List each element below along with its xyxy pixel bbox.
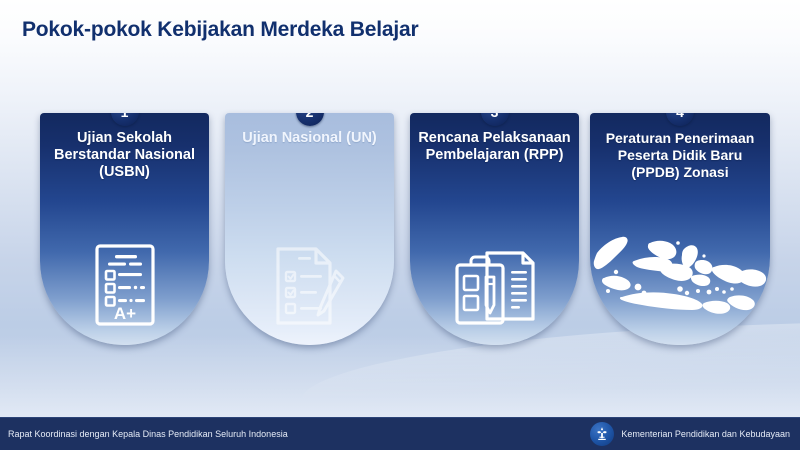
footer-ministry-block: Kementerian Pendidikan dan Kebudayaan: [590, 418, 790, 450]
clipboard-document-pencil-icon: [410, 235, 579, 327]
card-title: Ujian Sekolah Berstandar Nasional (USBN): [46, 130, 203, 181]
exam-sheet-grade-icon: A+: [40, 235, 209, 327]
svg-text:A+: A+: [113, 304, 135, 323]
policy-card-rpp[interactable]: Rencana Pelaksanaan Pembelajaran (RPP): [410, 113, 579, 345]
policy-card-usbn[interactable]: Ujian Sekolah Berstandar Nasional (USBN): [40, 113, 209, 345]
card-inner: Peraturan Penerimaan Peserta Didik Baru …: [590, 113, 770, 345]
checklist-pencil-icon: [225, 235, 394, 327]
policy-card-row: Ujian Sekolah Berstandar Nasional (USBN): [40, 113, 770, 348]
policy-card-ppdb[interactable]: Peraturan Penerimaan Peserta Didik Baru …: [590, 113, 770, 345]
footer-bar: Rapat Koordinasi dengan Kepala Dinas Pen…: [0, 417, 800, 450]
ministry-label: Kementerian Pendidikan dan Kebudayaan: [621, 429, 790, 439]
indonesia-map-icon: [590, 227, 770, 323]
card-title: Ujian Nasional (UN): [231, 130, 388, 147]
card-inner: Ujian Sekolah Berstandar Nasional (USBN): [40, 113, 209, 345]
page-title: Pokok-pokok Kebijakan Merdeka Belajar: [22, 18, 418, 42]
card-inner: Rencana Pelaksanaan Pembelajaran (RPP): [410, 113, 579, 345]
policy-card-un[interactable]: Ujian Nasional (UN): [225, 113, 394, 345]
tut-wuri-handayani-logo: [590, 422, 614, 446]
card-inner: Ujian Nasional (UN): [225, 113, 394, 345]
slide-canvas: Pokok-pokok Kebijakan Merdeka Belajar Uj…: [0, 0, 800, 450]
footer-event-label: Rapat Koordinasi dengan Kepala Dinas Pen…: [8, 418, 288, 450]
card-title: Peraturan Penerimaan Peserta Didik Baru …: [596, 130, 764, 181]
card-title: Rencana Pelaksanaan Pembelajaran (RPP): [416, 130, 573, 164]
